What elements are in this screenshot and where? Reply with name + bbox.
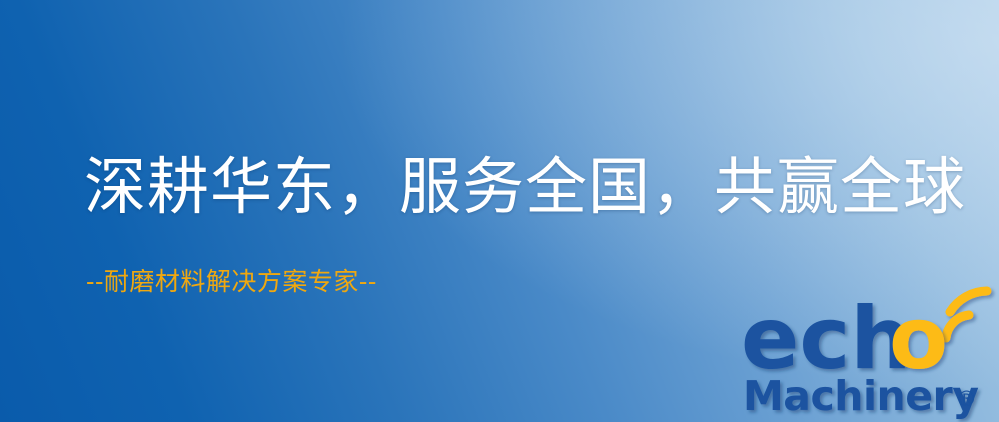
registered-trademark-mark: ® bbox=[956, 387, 977, 411]
company-logo[interactable]: ech o Machinery ® bbox=[741, 292, 993, 420]
promo-banner: 深耕华东，服务全国，共赢全球 --耐磨材料解决方案专家-- ech bbox=[0, 0, 999, 422]
banner-subtitle: --耐磨材料解决方案专家-- bbox=[86, 268, 377, 296]
echo-signal-waves-icon bbox=[946, 291, 987, 338]
banner-headline: 深耕华东，服务全国，共赢全球 bbox=[84, 154, 966, 219]
logo-artwork: ech o Machinery ® bbox=[741, 292, 993, 420]
logo-tagline-machinery: Machinery bbox=[743, 372, 978, 420]
